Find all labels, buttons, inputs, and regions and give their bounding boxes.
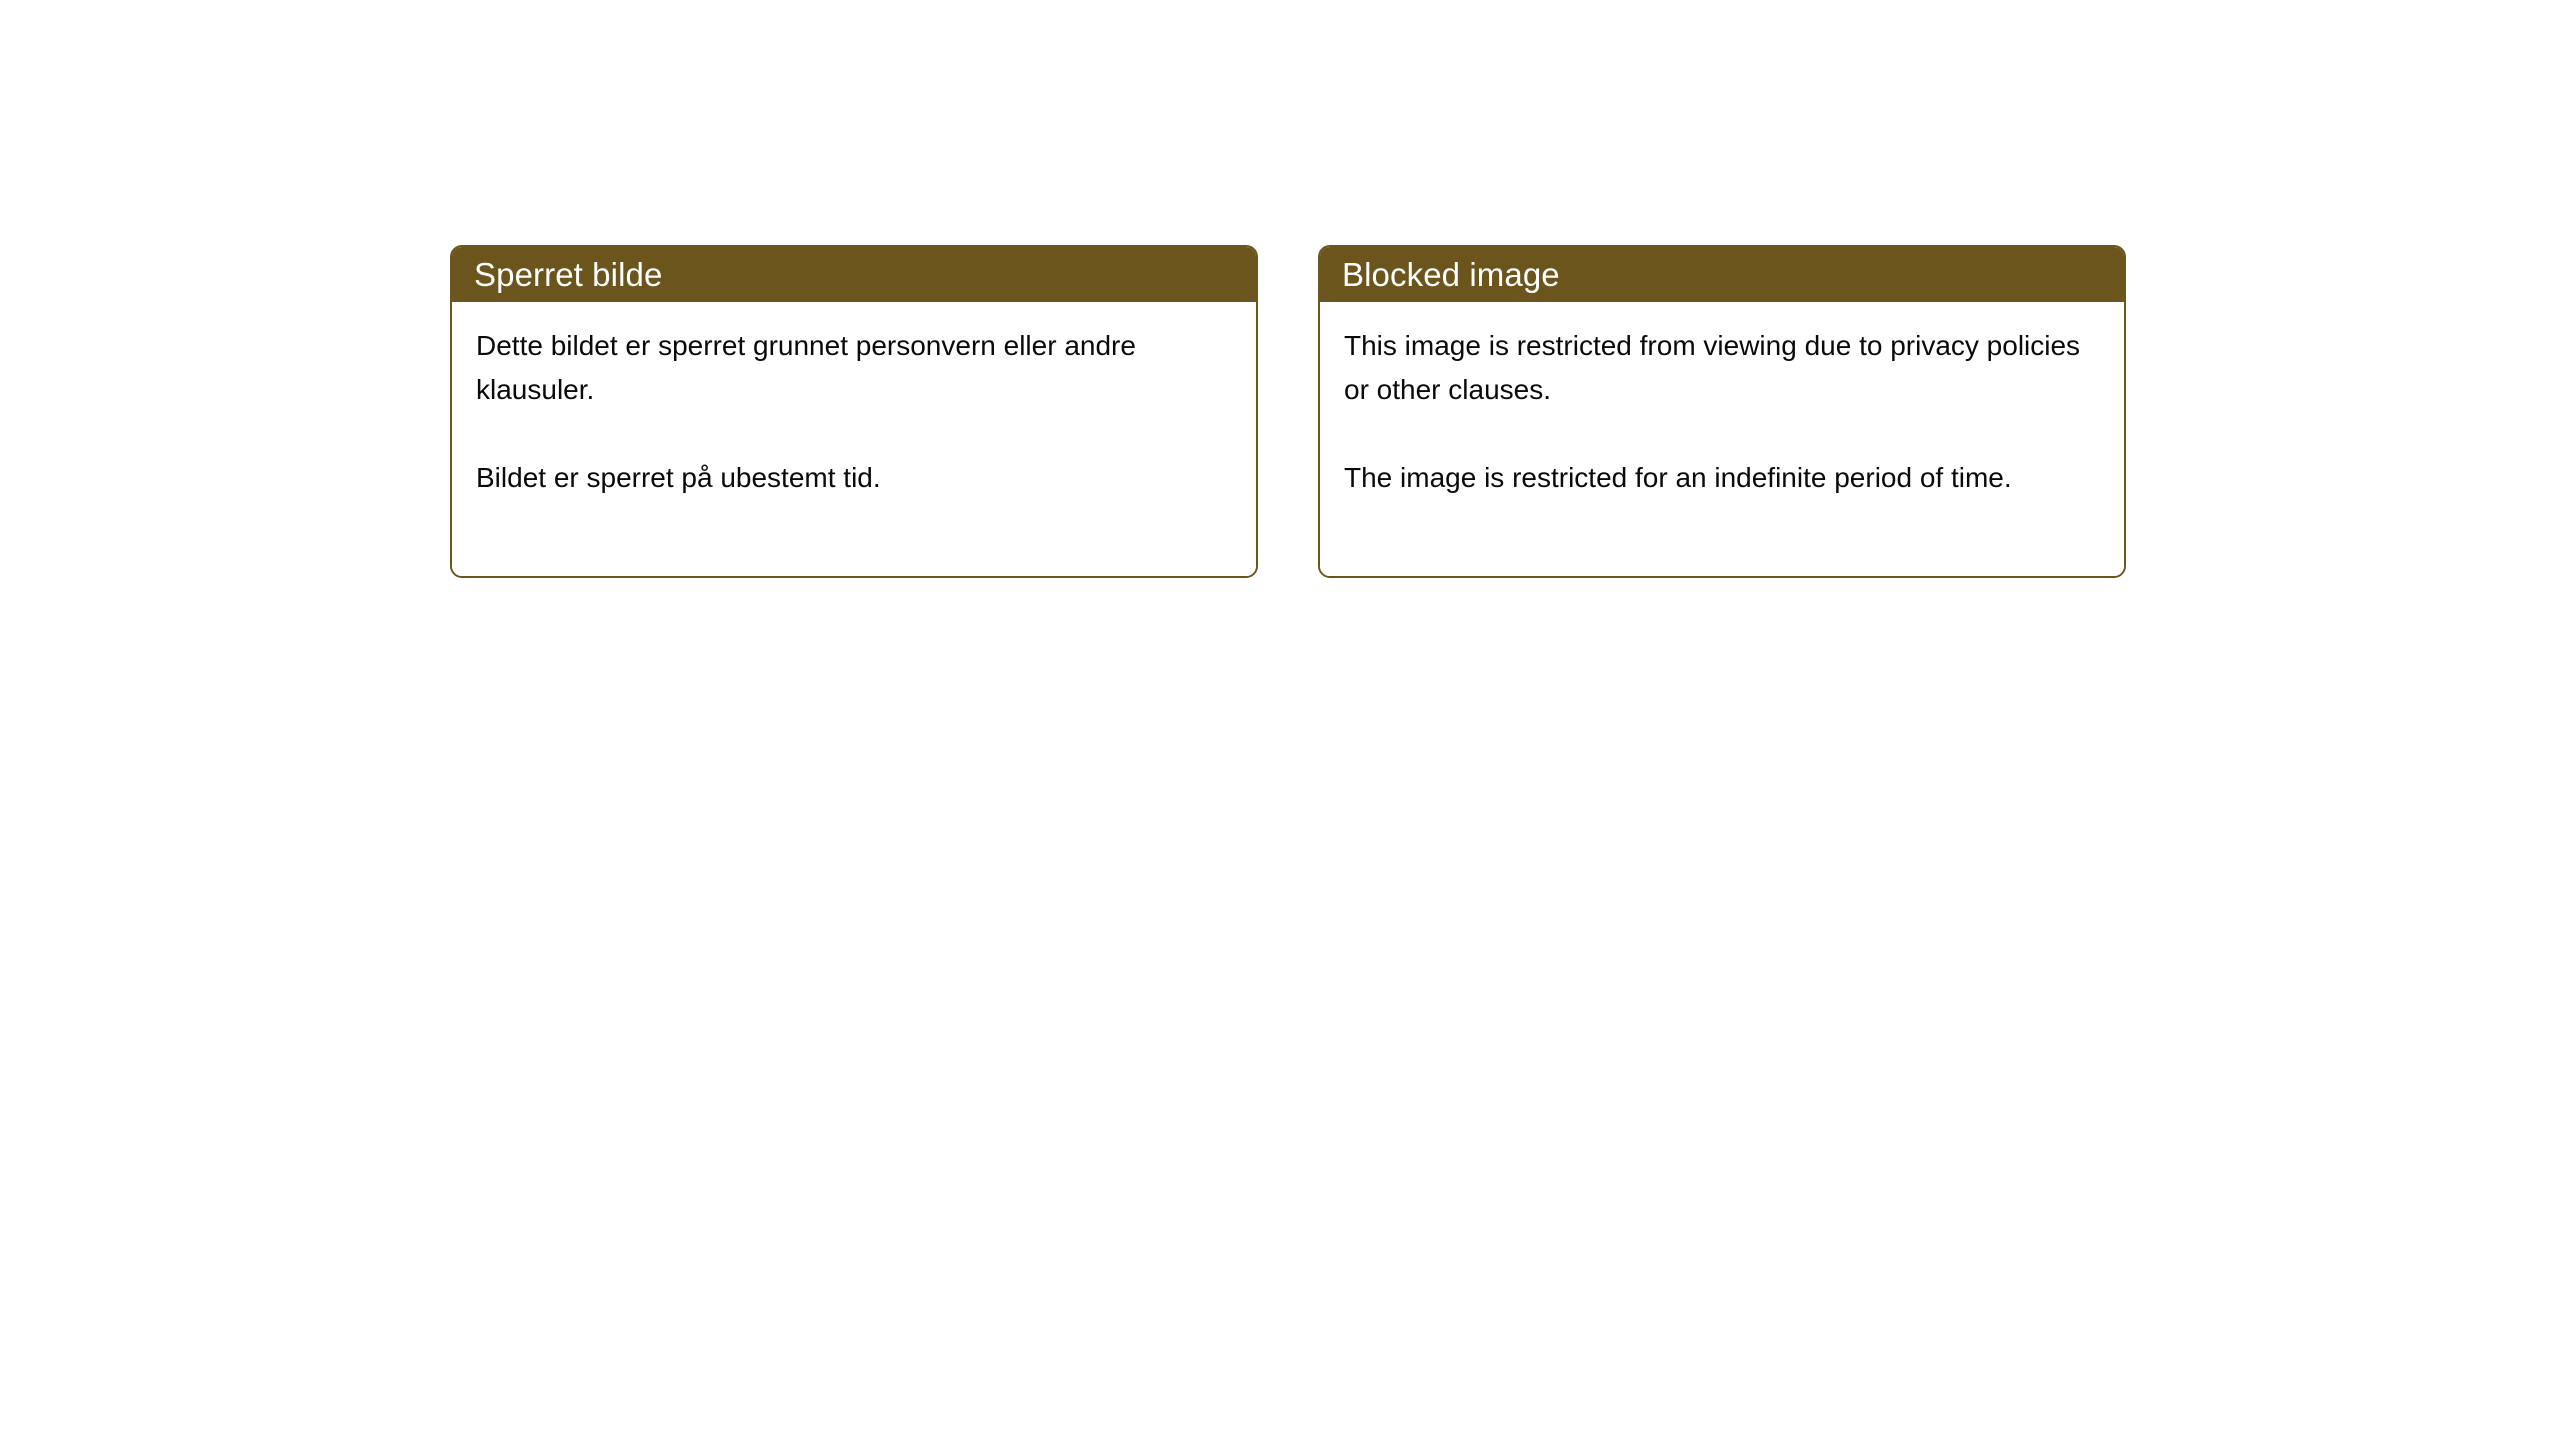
blocked-image-card-english: Blocked image This image is restricted f…	[1318, 245, 2126, 578]
card-body-norwegian: Dette bildet er sperret grunnet personve…	[452, 302, 1256, 576]
card-title-norwegian: Sperret bilde	[474, 257, 662, 293]
card-paragraph-reason-english: This image is restricted from viewing du…	[1344, 324, 2098, 412]
card-body-english: This image is restricted from viewing du…	[1320, 302, 2124, 576]
page-canvas: Sperret bilde Dette bildet er sperret gr…	[0, 0, 2560, 1440]
card-paragraph-reason-norwegian: Dette bildet er sperret grunnet personve…	[476, 324, 1230, 412]
blocked-image-notice-group: Sperret bilde Dette bildet er sperret gr…	[450, 245, 2126, 578]
card-paragraph-duration-norwegian: Bildet er sperret på ubestemt tid.	[476, 456, 1230, 500]
blocked-image-card-norwegian: Sperret bilde Dette bildet er sperret gr…	[450, 245, 1258, 578]
card-paragraph-duration-english: The image is restricted for an indefinit…	[1344, 456, 2098, 500]
card-header-norwegian: Sperret bilde	[452, 247, 1256, 302]
card-title-english: Blocked image	[1342, 257, 1560, 293]
card-header-english: Blocked image	[1320, 247, 2124, 302]
